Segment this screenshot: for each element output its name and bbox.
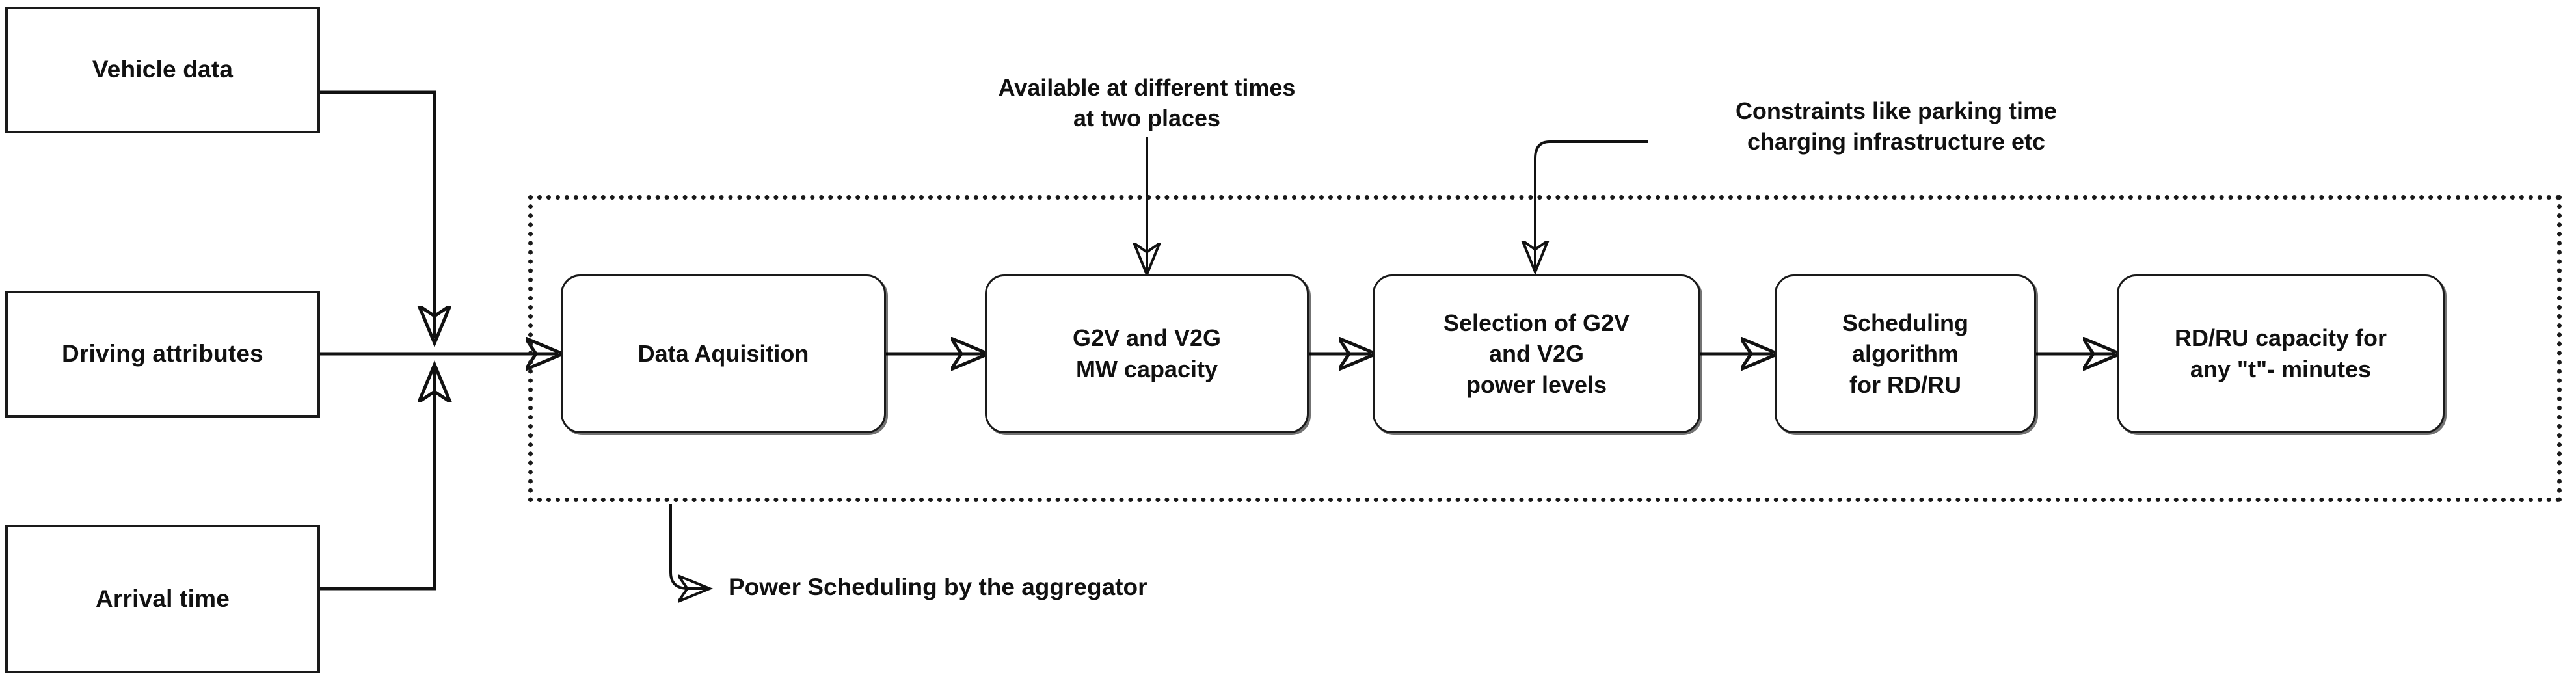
flowchart-canvas: Vehicle data Driving attributes Arrival …	[0, 0, 2576, 679]
process-label-g2v-v2g-capacity: G2V and V2G MW capacity	[1066, 323, 1228, 384]
wire-vehicle-to-bus	[319, 92, 435, 338]
annotation-constraints-note: Constraints like parking time charging i…	[1656, 96, 2137, 157]
wire-arrival-to-bus	[319, 369, 435, 589]
process-box-data-acquisition[interactable]: Data Aquisition	[561, 274, 886, 433]
input-label-arrival-time: Arrival time	[96, 584, 230, 614]
process-box-g2v-v2g-capacity[interactable]: G2V and V2G MW capacity	[985, 274, 1309, 433]
caption-aggregator: Power Scheduling by the aggregator	[729, 572, 1147, 602]
annotation-availability-note: Available at different times at two plac…	[952, 73, 1342, 134]
process-label-rd-ru-capacity: RD/RU capacity for any "t"- minutes	[2168, 323, 2393, 384]
process-label-scheduling-algo: Scheduling algorithm for RD/RU	[1836, 308, 1975, 401]
process-label-power-level-select: Selection of G2V and V2G power levels	[1437, 308, 1636, 401]
input-label-vehicle-data: Vehicle data	[92, 55, 233, 85]
process-box-scheduling-algo[interactable]: Scheduling algorithm for RD/RU	[1775, 274, 2036, 433]
input-label-driving-attributes: Driving attributes	[62, 339, 263, 369]
wire-aggregator-caption	[671, 504, 706, 589]
process-box-rd-ru-capacity[interactable]: RD/RU capacity for any "t"- minutes	[2117, 274, 2445, 433]
process-box-power-level-select[interactable]: Selection of G2V and V2G power levels	[1373, 274, 1700, 433]
input-box-driving-attributes[interactable]: Driving attributes	[5, 291, 320, 418]
process-label-data-acquisition: Data Aquisition	[632, 338, 816, 369]
input-box-arrival-time[interactable]: Arrival time	[5, 525, 320, 673]
wire-constraints-note	[1535, 142, 1648, 268]
input-box-vehicle-data[interactable]: Vehicle data	[5, 7, 320, 133]
